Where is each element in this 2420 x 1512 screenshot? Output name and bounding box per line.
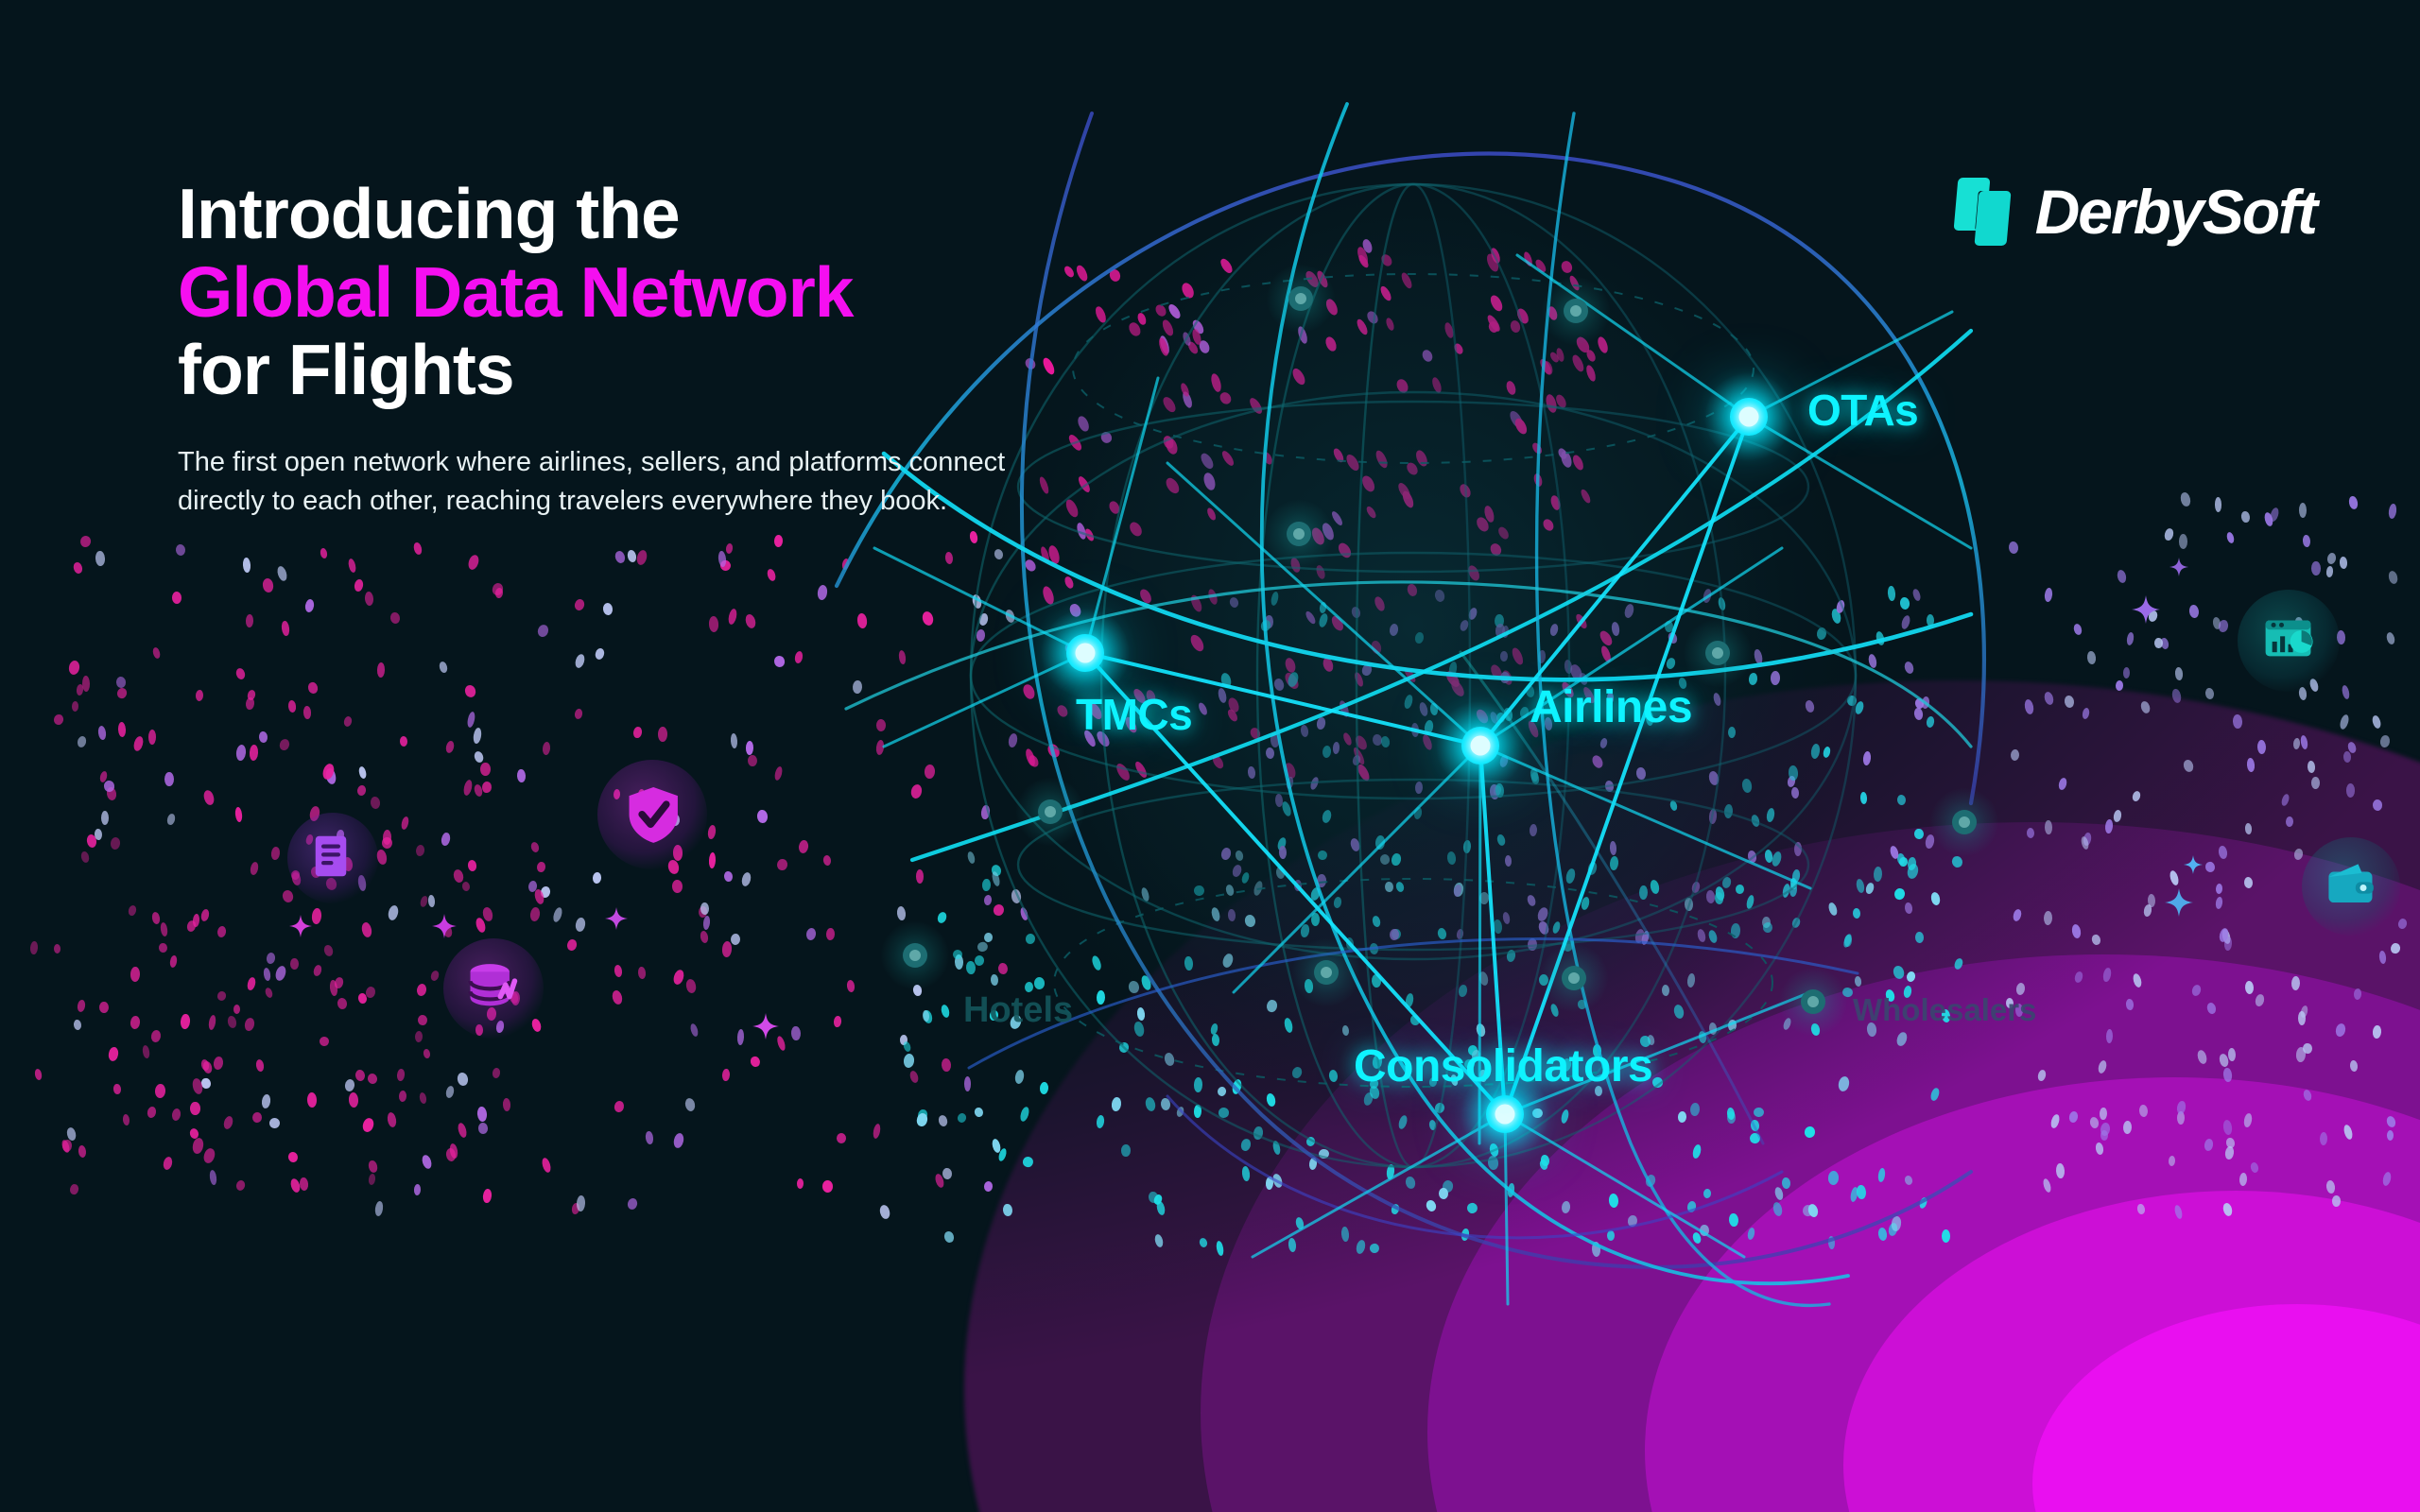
particle-dot <box>444 740 455 754</box>
particle-dot <box>193 913 200 926</box>
particle-dot <box>472 728 481 745</box>
particle-dot <box>461 881 471 892</box>
particle-dot <box>2082 707 2091 720</box>
particle-dot <box>2117 569 2128 584</box>
particle-dot <box>150 1030 162 1044</box>
particle-dot <box>750 1056 761 1069</box>
particle-dot <box>348 558 357 574</box>
particle-dot <box>467 554 480 571</box>
particle-dot <box>421 1154 433 1170</box>
particle-dot <box>846 980 856 993</box>
particle-dot <box>833 1015 841 1027</box>
derbysoft-logo-mark-icon <box>1956 178 2014 246</box>
network-label-tmcs: TMCs <box>1076 689 1192 740</box>
particle-dot <box>387 904 400 921</box>
particle-dot <box>722 1069 730 1081</box>
particle-dot <box>542 741 551 755</box>
particle-dot <box>376 662 385 678</box>
particle-dot <box>2010 749 2019 762</box>
particle-dot <box>671 880 682 894</box>
particle-dot <box>2339 713 2350 730</box>
particle-dot <box>2226 531 2236 544</box>
particle-dot <box>2188 605 2200 620</box>
particle-dot <box>195 690 203 701</box>
particle-dot <box>216 926 227 939</box>
particle-dot <box>529 907 541 923</box>
particle-dot <box>503 1098 511 1111</box>
particle-dot <box>2311 561 2321 576</box>
particle-dot <box>627 550 638 564</box>
particle-dot <box>80 850 90 863</box>
particle-dot <box>2342 751 2350 763</box>
particle-dot <box>108 1046 120 1061</box>
particle-dot <box>77 1000 86 1013</box>
particle-dot <box>477 1123 488 1134</box>
particle-dot <box>358 765 368 779</box>
node-core-icon <box>1739 407 1759 427</box>
particle-dot <box>244 1017 255 1032</box>
particle-dot <box>281 621 290 637</box>
particle-dot <box>2387 1130 2394 1141</box>
particle-dot <box>826 927 836 939</box>
particle-dot <box>2126 632 2135 646</box>
particle-dot <box>98 1002 108 1013</box>
particle-dot <box>95 829 103 841</box>
particle-dot <box>2179 534 2187 549</box>
particle-dot <box>632 727 642 739</box>
particle-dot <box>2243 1113 2253 1128</box>
particle-dot <box>575 917 587 932</box>
particle-dot <box>367 1073 378 1085</box>
particle-dot <box>776 858 787 871</box>
particle-dot <box>235 667 247 680</box>
particle-dot <box>466 712 475 729</box>
particle-dot <box>2326 552 2337 565</box>
particle-dot <box>731 933 741 945</box>
particle-dot <box>2354 988 2362 1001</box>
network-label-otas: OTAs <box>1807 385 1918 436</box>
particle-dot <box>2311 777 2320 789</box>
particle-dot <box>101 811 109 825</box>
particle-dot <box>2204 1138 2214 1151</box>
particle-dot <box>2244 876 2254 888</box>
particle-dot <box>303 706 312 719</box>
particle-dot <box>429 970 440 982</box>
particle-dot <box>72 561 83 575</box>
particle-dot <box>2232 714 2242 729</box>
particle-dot <box>270 847 280 861</box>
particle-dot <box>725 542 734 554</box>
particle-dot <box>97 726 107 741</box>
sparkle-star-icon <box>605 907 628 930</box>
particle-dot <box>440 832 450 847</box>
particle-dot <box>361 1117 375 1134</box>
particle-dot <box>2325 566 2334 578</box>
hero-copy: Introducing the Global Data Network for … <box>178 175 1066 521</box>
particle-dot <box>274 965 287 982</box>
particle-dot <box>95 551 105 566</box>
particle-dot <box>427 895 435 907</box>
particle-dot <box>29 941 38 954</box>
particle-dot <box>2378 951 2387 965</box>
particle-dot <box>2286 816 2293 828</box>
particle-dot <box>68 660 80 675</box>
particle-dot <box>160 922 168 937</box>
particle-dot <box>2074 971 2084 985</box>
particle-dot <box>117 722 126 737</box>
particle-dot <box>246 614 254 627</box>
particle-dot <box>77 735 88 748</box>
particle-dot <box>2206 1002 2218 1015</box>
particle-dot <box>235 1179 247 1192</box>
particle-dot <box>2303 1089 2313 1102</box>
particle-dot <box>319 1037 328 1047</box>
particle-dot <box>79 535 92 549</box>
particle-dot <box>171 1108 181 1121</box>
particle-dot <box>71 700 78 711</box>
particle-dot <box>2116 680 2124 692</box>
particle-dot <box>360 922 372 939</box>
particle-dot <box>415 845 425 858</box>
particle-dot <box>261 1094 271 1110</box>
particle-dot <box>2106 1029 2113 1043</box>
particle-dot <box>817 585 828 601</box>
particle-dot <box>2169 869 2180 886</box>
particle-dot <box>531 1019 543 1034</box>
particle-dot <box>266 952 275 964</box>
particle-dot <box>2292 737 2300 749</box>
particle-dot <box>2132 972 2143 988</box>
particle-dot <box>264 987 274 999</box>
particle-dot <box>299 1177 308 1191</box>
sparkle-star-icon <box>432 914 457 938</box>
particle-dot <box>374 1201 384 1217</box>
particle-dot <box>2388 570 2399 584</box>
background-label-wholesalers: Wholesalers <box>1853 992 2036 1028</box>
particle-dot <box>445 1085 456 1098</box>
particle-dot <box>635 549 648 566</box>
particle-dot <box>773 765 784 782</box>
particle-dot <box>536 862 545 873</box>
particle-dot <box>401 816 410 830</box>
particle-dot <box>344 1078 355 1091</box>
particle-dot <box>2205 688 2215 700</box>
particle-dot <box>343 715 353 727</box>
particle-dot <box>222 1115 234 1130</box>
particle-dot <box>251 1111 261 1123</box>
particle-dot <box>176 544 186 557</box>
network-label-airlines: Airlines <box>1530 681 1692 733</box>
particle-dot <box>399 736 407 747</box>
particle-dot <box>2222 1120 2233 1136</box>
sparkle-star-icon <box>2184 855 2203 874</box>
particle-dot <box>2346 783 2355 798</box>
headline-line-1: Introducing the <box>178 175 1066 253</box>
particle-dot <box>2055 1162 2065 1177</box>
derbysoft-wordmark: DerbySoft <box>2035 176 2316 248</box>
page-title: Introducing the Global Data Network for … <box>178 175 1066 409</box>
particle-dot <box>233 1005 240 1014</box>
particle-dot <box>158 943 167 954</box>
particle-dot <box>748 755 757 767</box>
particle-dot <box>699 930 708 944</box>
particle-dot <box>516 769 525 782</box>
particle-dot <box>2097 1059 2108 1074</box>
particle-dot <box>242 557 251 573</box>
particle-dot <box>235 744 247 761</box>
particle-dot <box>480 763 491 776</box>
particle-dot <box>2026 828 2034 838</box>
particle-dot <box>2170 688 2181 703</box>
particle-dot <box>152 646 162 659</box>
particle-dot <box>482 782 493 794</box>
node-core-icon <box>1495 1105 1515 1125</box>
particle-dot <box>418 1015 427 1025</box>
particle-dot <box>672 1133 684 1150</box>
particle-dot <box>797 1178 804 1189</box>
particle-dot <box>2100 1130 2109 1142</box>
particle-dot <box>2218 845 2228 859</box>
particle-dot <box>626 1197 638 1211</box>
particle-dot <box>723 871 733 883</box>
particle-dot <box>112 1084 121 1095</box>
particle-dot <box>2379 735 2390 748</box>
particle-dot <box>541 1157 552 1174</box>
particle-dot <box>142 1044 150 1058</box>
particle-dot <box>2138 1104 2148 1117</box>
particle-dot <box>2332 1195 2341 1207</box>
particle-dot <box>365 592 374 607</box>
particle-dot <box>2176 1101 2187 1116</box>
sparkle-star-icon <box>2132 595 2160 624</box>
particle-dot <box>357 784 368 797</box>
particle-dot <box>2299 735 2308 750</box>
particle-dot <box>730 733 737 749</box>
particle-dot <box>2334 1022 2346 1038</box>
particle-dot <box>202 1147 216 1164</box>
particle-dot <box>645 1130 653 1144</box>
particle-dot <box>202 789 216 806</box>
particle-dot <box>169 954 178 968</box>
particle-dot <box>457 1122 468 1138</box>
headline-line-3: for Flights <box>178 331 1066 409</box>
particle-dot <box>2088 1116 2100 1129</box>
particle-dot <box>389 611 401 625</box>
particle-dot <box>2227 1048 2235 1061</box>
particle-dot <box>2048 1113 2060 1129</box>
particle-dot <box>130 967 140 982</box>
derbysoft-logo[interactable]: DerbySoft <box>1956 176 2316 248</box>
particle-dot <box>209 1169 218 1185</box>
particle-dot <box>249 861 259 875</box>
particle-dot <box>773 655 786 668</box>
particle-dot <box>2341 685 2350 701</box>
particle-dot <box>337 997 347 1009</box>
particle-dot <box>2269 507 2280 523</box>
particle-dot <box>73 1020 81 1031</box>
sparkle-star-icon <box>2169 558 2188 576</box>
particle-dot <box>307 1092 318 1108</box>
particle-dot <box>2373 1025 2382 1039</box>
particle-dot <box>2221 1202 2233 1216</box>
particle-dot <box>837 1133 846 1143</box>
particle-dot <box>282 889 295 903</box>
particle-dot <box>287 699 296 712</box>
particle-dot <box>2250 1162 2260 1175</box>
particle-dot <box>467 860 477 872</box>
particle-dot <box>2174 667 2183 680</box>
particle-dot <box>552 906 564 922</box>
particle-dot <box>146 1106 156 1118</box>
particle-dot <box>304 598 315 612</box>
particle-dot <box>130 1016 141 1030</box>
database-icon <box>443 938 544 1039</box>
node-core-icon <box>1471 736 1491 756</box>
particle-dot <box>191 1137 204 1155</box>
particle-dot <box>320 547 328 558</box>
particle-dot <box>213 1056 224 1070</box>
particle-dot <box>2104 819 2114 834</box>
particle-dot <box>2218 619 2229 633</box>
background-label-hotels: Hotels <box>963 990 1073 1031</box>
particle-dot <box>311 907 321 924</box>
particle-dot <box>279 738 291 751</box>
particle-dot <box>592 872 601 885</box>
particle-dot <box>2182 759 2194 773</box>
particle-dot <box>2385 632 2395 646</box>
particle-dot <box>2123 667 2130 679</box>
particle-dot <box>166 813 176 826</box>
particle-dot <box>423 1049 431 1060</box>
particle-dot <box>477 1106 488 1122</box>
particle-dot <box>638 967 647 979</box>
hero-subtitle: The first open network where airlines, s… <box>178 443 1010 521</box>
shield-check-icon <box>597 760 707 869</box>
particle-dot <box>2045 820 2052 834</box>
particle-dot <box>746 741 754 755</box>
particle-dot <box>150 911 160 924</box>
particle-dot <box>2057 778 2067 792</box>
particle-dot <box>2086 651 2096 665</box>
particle-dot <box>2091 934 2101 946</box>
particle-dot <box>2222 1068 2232 1082</box>
particle-dot <box>2298 1010 2306 1024</box>
particle-dot <box>148 730 156 745</box>
particle-dot <box>2244 823 2252 835</box>
particle-dot <box>614 549 626 564</box>
particle-dot <box>155 1084 166 1099</box>
particle-dot <box>574 653 586 669</box>
particle-dot <box>611 989 623 1005</box>
particle-dot <box>2100 1107 2107 1120</box>
particle-dot <box>2044 910 2053 925</box>
particle-dot <box>537 624 550 638</box>
particle-dot <box>740 871 752 887</box>
particle-dot <box>2349 1060 2358 1073</box>
particle-dot <box>259 730 268 743</box>
particle-dot <box>287 1151 299 1163</box>
particle-dot <box>595 647 606 661</box>
particle-dot <box>307 681 319 694</box>
particle-dot <box>2013 909 2023 922</box>
particle-dot <box>2257 740 2267 755</box>
node-core-icon <box>1076 644 1096 663</box>
particle-dot <box>700 902 710 915</box>
particle-dot <box>2143 903 2152 917</box>
particle-dot <box>53 713 64 726</box>
particle-dot <box>2239 1173 2248 1187</box>
particle-dot <box>171 592 181 605</box>
particle-dot <box>247 976 257 990</box>
particle-dot <box>2240 511 2250 524</box>
particle-dot <box>2302 534 2310 547</box>
particle-dot <box>2307 761 2315 774</box>
particle-dot <box>262 577 274 593</box>
particle-dot <box>744 613 756 629</box>
particle-dot <box>234 807 243 822</box>
particle-dot <box>2372 799 2381 811</box>
analytics-icon <box>2238 590 2340 692</box>
particle-dot <box>2293 848 2304 860</box>
particle-dot <box>2126 999 2135 1010</box>
particle-dot <box>2339 556 2347 568</box>
particle-dot <box>794 650 804 663</box>
particle-dot <box>462 779 474 796</box>
particle-dot <box>822 1180 833 1193</box>
particle-dot <box>736 1029 744 1045</box>
particle-dot <box>354 579 364 593</box>
particle-dot <box>290 958 299 970</box>
particle-dot <box>684 978 697 993</box>
particle-dot <box>790 1025 800 1040</box>
particle-dot <box>2290 976 2300 991</box>
particle-dot <box>414 1030 423 1041</box>
particle-dot <box>355 1070 366 1082</box>
particle-dot <box>493 1068 502 1079</box>
particle-dot <box>2342 1124 2354 1141</box>
particle-dot <box>76 684 84 696</box>
particle-dot <box>419 1091 427 1105</box>
particle-dot <box>116 676 127 688</box>
particle-dot <box>2164 527 2174 541</box>
particle-dot <box>2045 588 2054 603</box>
headline-line-2: Global Data Network <box>178 253 1066 332</box>
particle-dot <box>54 944 61 954</box>
particle-dot <box>250 745 259 761</box>
particle-dot <box>2174 1204 2185 1220</box>
particle-dot <box>226 1015 236 1029</box>
particle-dot <box>2113 809 2122 822</box>
particle-dot <box>709 852 717 868</box>
particle-dot <box>69 1183 79 1195</box>
particle-dot <box>614 1101 625 1114</box>
particle-dot <box>263 968 271 982</box>
particle-dot <box>216 990 228 1002</box>
particle-dot <box>2068 1110 2079 1123</box>
particle-dot <box>2042 1177 2052 1194</box>
particle-dot <box>128 904 137 916</box>
particle-dot <box>164 772 173 786</box>
particle-dot <box>439 661 449 675</box>
particle-dot <box>574 708 583 720</box>
particle-dot <box>371 797 381 810</box>
particle-dot <box>2246 757 2256 772</box>
particle-dot <box>323 944 335 957</box>
particle-dot <box>399 1090 407 1101</box>
sparkle-star-icon <box>752 1013 779 1039</box>
particle-dot <box>614 964 623 977</box>
particle-dot <box>313 964 323 976</box>
